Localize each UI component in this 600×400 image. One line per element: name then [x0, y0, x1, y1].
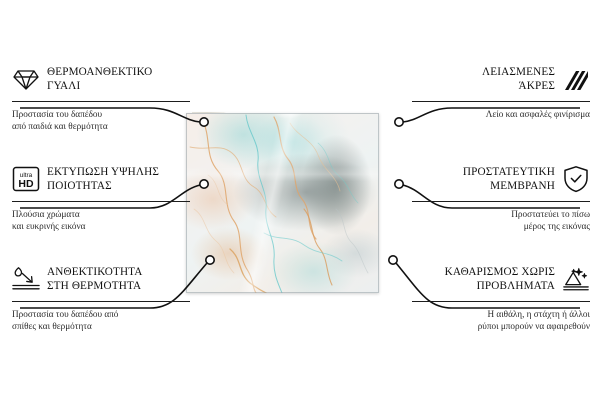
feature-easy-cleaning: ΚΑΘΑΡΙΣΜΟΣ ΧΩΡΙΣ ΠΡΟΒΛΗΜΑΤΑ Η αιθάλη, η … — [412, 264, 590, 333]
feature-body: Προστασία του δαπέδου από σπίθες και θερ… — [12, 308, 190, 333]
feature-polished-edges: ΛΕΙΑΣΜΕΝΕΣ ΆΚΡΕΣ Λείο και ασφαλές φινίρι… — [412, 64, 590, 120]
product-image — [186, 112, 412, 294]
feature-body: Προστασία του δαπέδου από παιδιά και θερ… — [12, 108, 190, 133]
shield-check-icon — [562, 165, 590, 193]
ultra-hd-bottom-label: HD — [18, 178, 34, 190]
easy-clean-icon — [562, 265, 590, 293]
feature-protective-membrane: ΠΡΟΣΤΑΤΕΥΤΙΚΗ ΜΕΜΒΡΑΝΗ Προστατεύει το πί… — [412, 164, 590, 233]
feature-title: ΘΕΡΜΟΑΝΘΕΚΤΙΚΟ ΓΥΑΛΙ — [47, 65, 152, 93]
feature-divider — [412, 201, 590, 202]
feature-title: ΚΑΘΑΡΙΣΜΟΣ ΧΩΡΙΣ ΠΡΟΒΛΗΜΑΤΑ — [445, 265, 555, 293]
feature-heading: ΑΝΘΕΚΤΙΚΟΤΗΤΑ ΣΤΗ ΘΕΡΜΟΤΗΤΑ — [12, 264, 190, 294]
ultra-hd-icon: ultra HD — [12, 165, 40, 193]
feature-body: Η αιθάλη, η στάχτη ή άλλοι ρύποι μπορούν… — [412, 308, 590, 333]
infographic-canvas: ΘΕΡΜΟΑΝΘΕΚΤΙΚΟ ΓΥΑΛΙ Προστασία του δαπέδ… — [0, 0, 600, 400]
glass-panel — [186, 113, 379, 293]
polished-edges-icon — [562, 65, 590, 93]
feature-divider — [12, 201, 190, 202]
feature-divider — [412, 301, 590, 302]
feature-heading: ΚΑΘΑΡΙΣΜΟΣ ΧΩΡΙΣ ΠΡΟΒΛΗΜΑΤΑ — [412, 264, 590, 294]
feature-title: ΠΡΟΣΤΑΤΕΥΤΙΚΗ ΜΕΜΒΡΑΝΗ — [463, 165, 555, 193]
feature-title: ΑΝΘΕΚΤΙΚΟΤΗΤΑ ΣΤΗ ΘΕΡΜΟΤΗΤΑ — [47, 265, 143, 293]
feature-heading: ΛΕΙΑΣΜΕΝΕΣ ΆΚΡΕΣ — [412, 64, 590, 94]
feature-divider — [12, 301, 190, 302]
glass-edge — [186, 113, 379, 293]
heat-resistance-icon — [12, 265, 40, 293]
feature-body: Πλούσια χρώματα και ευκρινής εικόνα — [12, 208, 190, 233]
feature-divider — [12, 101, 190, 102]
feature-title: ΕΚΤΥΠΩΣΗ ΥΨΗΛΗΣ ΠΟΙΟΤΗΤΑΣ — [47, 165, 159, 193]
diamond-icon — [12, 65, 40, 93]
feature-body: Προστατεύει το πίσω μέρος της εικόνας — [412, 208, 590, 233]
feature-high-quality-print: ultra HD ΕΚΤΥΠΩΣΗ ΥΨΗΛΗΣ ΠΟΙΟΤΗΤΑΣ Πλούσ… — [12, 164, 190, 233]
feature-heading: ΠΡΟΣΤΑΤΕΥΤΙΚΗ ΜΕΜΒΡΑΝΗ — [412, 164, 590, 194]
feature-heat-resistance: ΑΝΘΕΚΤΙΚΟΤΗΤΑ ΣΤΗ ΘΕΡΜΟΤΗΤΑ Προστασία το… — [12, 264, 190, 333]
feature-heading: ΘΕΡΜΟΑΝΘΕΚΤΙΚΟ ΓΥΑΛΙ — [12, 64, 190, 94]
feature-body: Λείο και ασφαλές φινίρισμα — [412, 108, 590, 120]
feature-title: ΛΕΙΑΣΜΕΝΕΣ ΆΚΡΕΣ — [482, 65, 555, 93]
feature-heading: ultra HD ΕΚΤΥΠΩΣΗ ΥΨΗΛΗΣ ΠΟΙΟΤΗΤΑΣ — [12, 164, 190, 194]
feature-divider — [412, 101, 590, 102]
feature-heat-resistant-glass: ΘΕΡΜΟΑΝΘΕΚΤΙΚΟ ΓΥΑΛΙ Προστασία του δαπέδ… — [12, 64, 190, 133]
